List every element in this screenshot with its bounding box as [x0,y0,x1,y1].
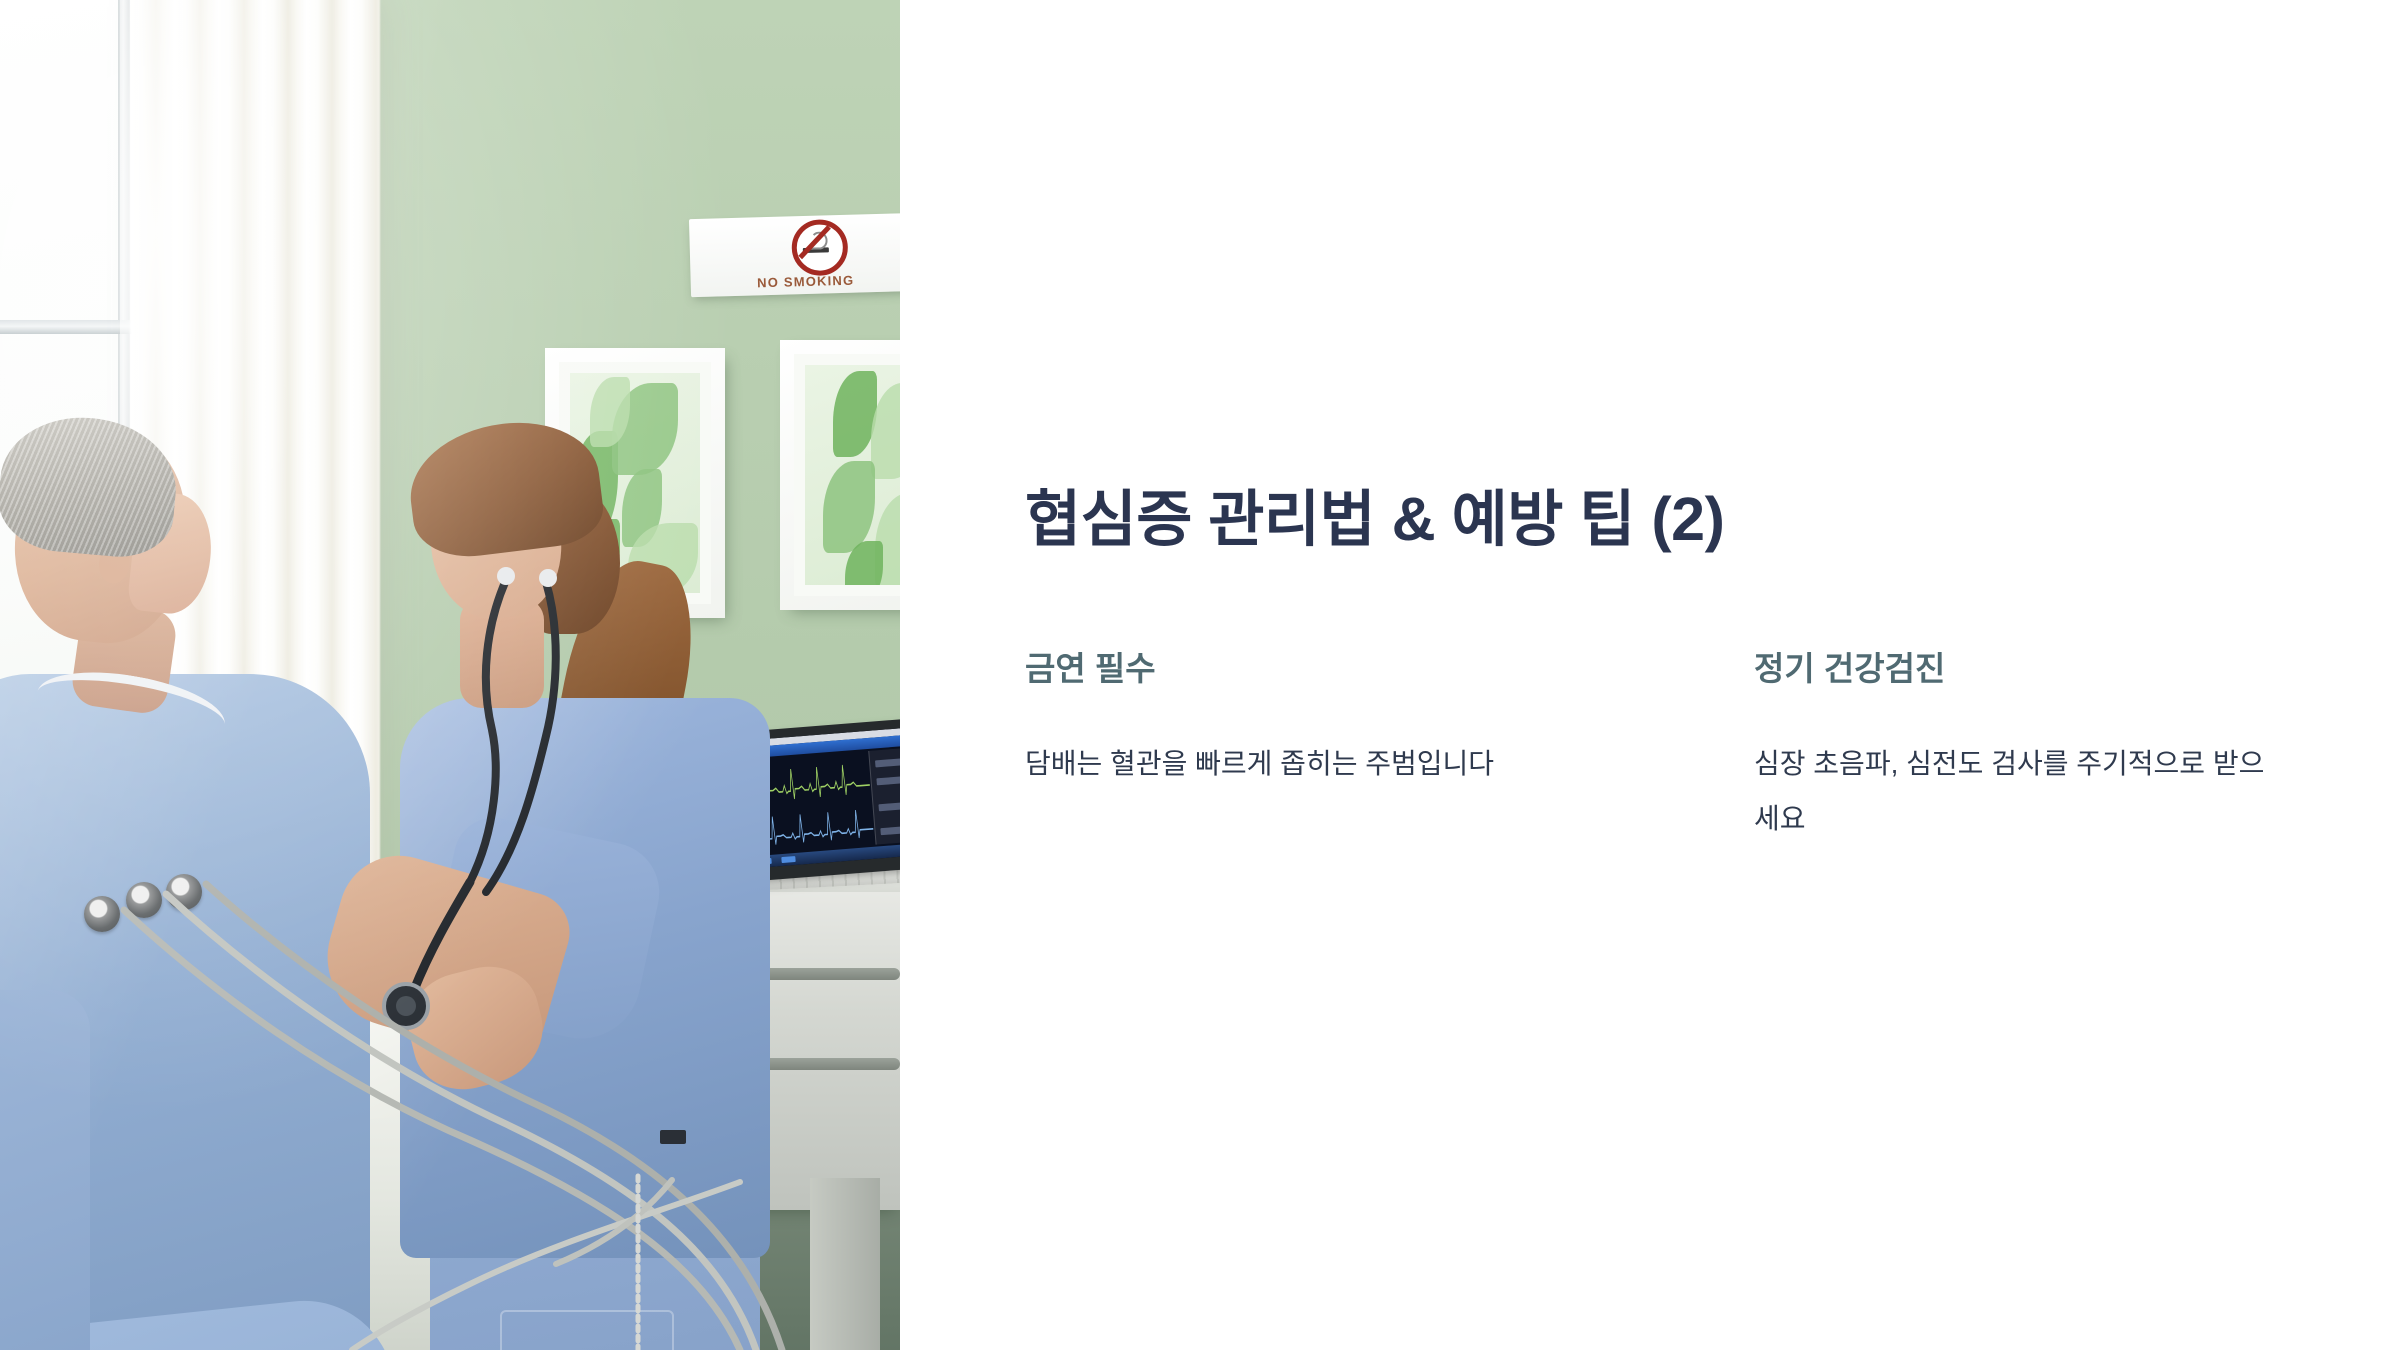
tip-body-no-smoking: 담배는 혈관을 빠르게 좁히는 주범입니다 [1025,737,1555,792]
tip-column-no-smoking: 금연 필수 담배는 혈관을 빠르게 좁히는 주범입니다 [1025,648,1636,846]
clinic-photo: NO SMOKING [0,0,900,1350]
tip-heading-checkup: 정기 건강검진 [1754,648,2365,689]
page-title: 협심증 관리법 & 예방 팁 (2) [1025,484,1724,556]
tip-body-checkup: 심장 초음파, 심전도 검사를 주기적으로 받으세요 [1754,737,2284,846]
ecg-cables [0,0,900,1350]
content-panel: 협심증 관리법 & 예방 팁 (2) 금연 필수 담배는 혈관을 빠르게 좁히는… [900,0,2400,1350]
tips-columns: 금연 필수 담배는 혈관을 빠르게 좁히는 주범입니다 정기 건강검진 심장 초… [1025,648,2365,846]
tip-column-checkup: 정기 건강검진 심장 초음파, 심전도 검사를 주기적으로 받으세요 [1754,648,2365,846]
slide-root: NO SMOKING [0,0,2400,1350]
tip-heading-no-smoking: 금연 필수 [1025,648,1636,689]
